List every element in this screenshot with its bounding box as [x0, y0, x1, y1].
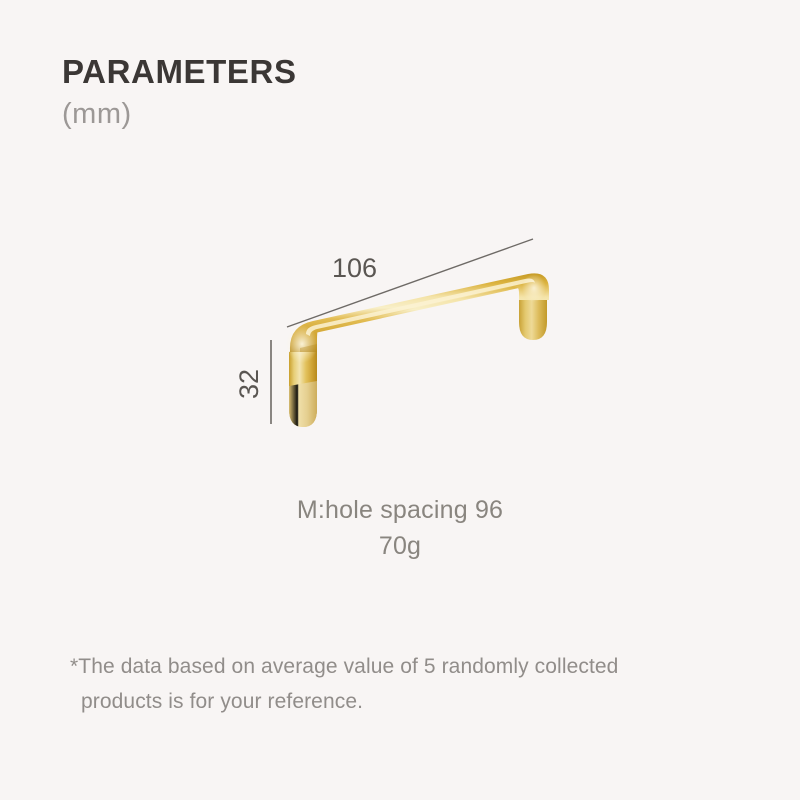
dimension-line-length — [287, 239, 533, 327]
dimension-label-height: 32 — [234, 369, 264, 399]
unit-label: (mm) — [62, 96, 297, 132]
page-title: PARAMETERS — [62, 54, 297, 90]
dimension-label-length: 106 — [332, 253, 377, 283]
header-block: PARAMETERS (mm) — [62, 54, 297, 132]
footnote: *The data based on average value of 5 ra… — [70, 650, 750, 719]
spec-hole-spacing: M:hole spacing 96 — [0, 492, 800, 528]
footnote-line-1: *The data based on average value of 5 ra… — [70, 650, 750, 685]
spec-weight: 70g — [0, 528, 800, 564]
footnote-line-2: products is for your reference. — [70, 685, 750, 720]
handle-shape — [286, 273, 549, 427]
spec-caption: M:hole spacing 96 70g — [0, 492, 800, 565]
